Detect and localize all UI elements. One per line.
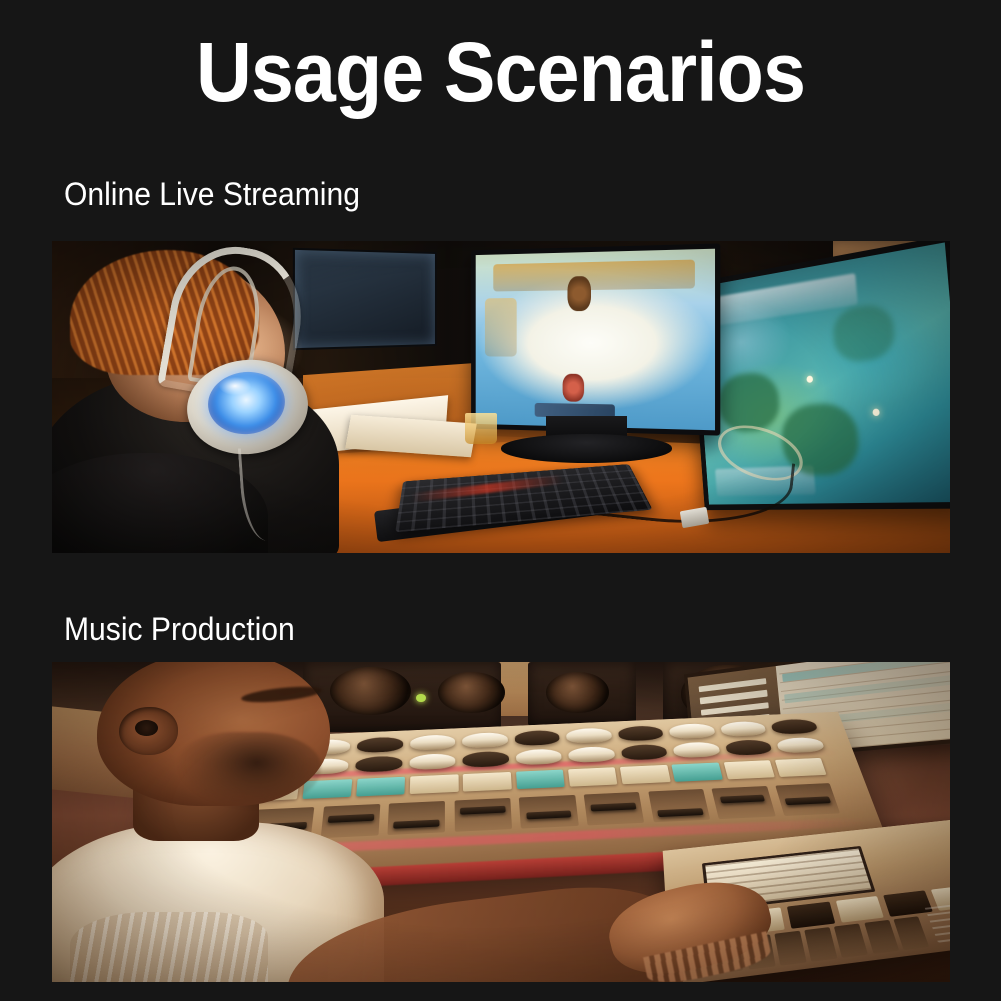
speaker-woofer [330,667,411,715]
fader-knob [393,819,439,828]
console-knob [514,730,560,746]
console-knob [770,719,819,734]
console-knob [672,742,721,758]
console-button [835,896,884,922]
console-pad [463,772,512,792]
console-knob [719,721,767,736]
console-fader [583,792,644,826]
game-ui-banner [494,260,695,292]
console-pad [410,774,458,794]
map-terrain [832,302,896,363]
console-meter-panel [923,897,950,943]
console-fader [775,783,840,816]
console-knob [565,728,612,744]
console-fader [864,920,899,954]
tshirt-folds [70,912,268,982]
console-knob [409,735,455,751]
console-pad [774,758,826,777]
gaming-live-streaming-photo [52,241,950,553]
fader-knob [327,814,373,823]
background-monitor [293,248,437,350]
console-knob [617,726,664,742]
console-fader [454,798,512,832]
game-ui-sidebar [485,299,517,357]
section-caption-music-production: Music Production [64,613,295,645]
console-fader [387,801,445,835]
console-knob [462,732,508,748]
usage-scenarios-page: Usage Scenarios Online Live Streaming [0,0,1001,1001]
console-knob [409,753,456,769]
console-pad [723,760,775,779]
console-fader [711,786,775,820]
music-production-photo [52,662,950,982]
speaker-woofer [438,672,505,714]
center-monitor-game [471,244,721,436]
console-pad [515,770,564,790]
console-knob [775,737,825,753]
speaker-woofer [546,672,609,714]
console-knob [355,756,402,772]
map-terrain [717,370,781,434]
fader-knob [785,797,831,806]
console-fader [519,795,578,829]
console-fader [320,804,380,839]
game-hud-top [706,273,857,327]
console-fader [893,916,929,950]
page-title: Usage Scenarios [40,30,961,114]
console-pad [568,767,618,787]
console-knob [515,749,562,765]
console-fader [774,931,806,966]
console-fader [648,789,710,823]
console-pad [620,765,670,785]
speaker-power-led [416,694,426,702]
drink-cup [465,413,497,444]
fader-knob [719,795,765,804]
console-knob [567,746,615,762]
console-knob [620,744,668,760]
section-caption-online-live-streaming: Online Live Streaming [64,178,360,210]
in-ear-monitor [135,720,158,736]
map-highlight [872,408,880,416]
console-knob [668,723,716,738]
console-button [786,902,834,929]
fader-knob [657,808,703,817]
console-knob [724,740,773,756]
console-fader [834,924,868,959]
game-character [568,277,592,312]
console-knob [356,737,403,753]
fader-knob [460,806,505,815]
console-fader [804,927,837,962]
map-highlight [806,375,813,383]
console-pad [356,777,405,797]
fader-knob [526,811,572,820]
console-knob [462,751,509,767]
game-character [563,374,584,402]
fader-knob [590,803,636,812]
console-pad [671,762,722,781]
